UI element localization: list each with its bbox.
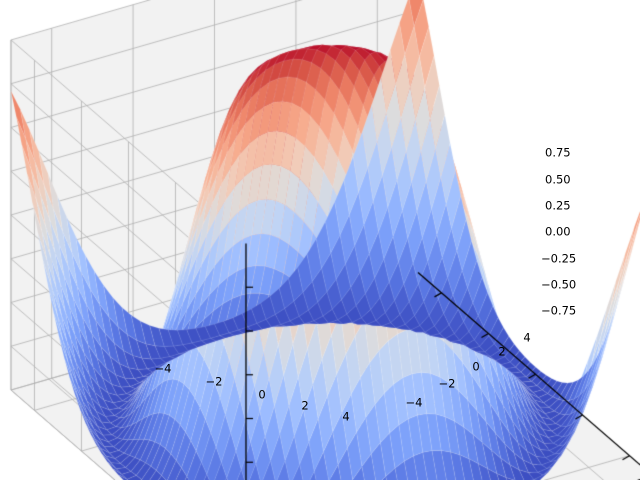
z-tick-label-4: −0.25 (541, 253, 576, 265)
z-tick-label-6: −0.75 (541, 305, 576, 317)
x-tick-label-3: 2 (301, 400, 308, 412)
z-tick-label-3: 0.00 (545, 226, 571, 238)
z-tick-label-5: −0.50 (541, 279, 576, 291)
y-tick-label-0: −4 (406, 397, 423, 409)
z-tick-label-1: 0.50 (545, 174, 571, 186)
y-tick-label-1: −2 (439, 378, 456, 390)
z-tick-label-0: 0.75 (545, 147, 571, 159)
y-tick-label-4: 4 (523, 332, 530, 344)
matplotlib-figure: −4−2024 −4−2024 0.750.500.250.00−0.25−0.… (0, 0, 640, 480)
surface-plot-3d (0, 0, 640, 480)
x-tick-label-4: 4 (342, 411, 349, 423)
z-tick-label-2: 0.25 (545, 200, 571, 212)
x-tick-label-1: −2 (206, 376, 223, 388)
y-tick-label-2: 0 (472, 361, 479, 373)
x-tick-label-0: −4 (155, 363, 172, 375)
x-tick-label-2: 0 (258, 389, 265, 401)
y-tick-label-3: 2 (498, 346, 505, 358)
